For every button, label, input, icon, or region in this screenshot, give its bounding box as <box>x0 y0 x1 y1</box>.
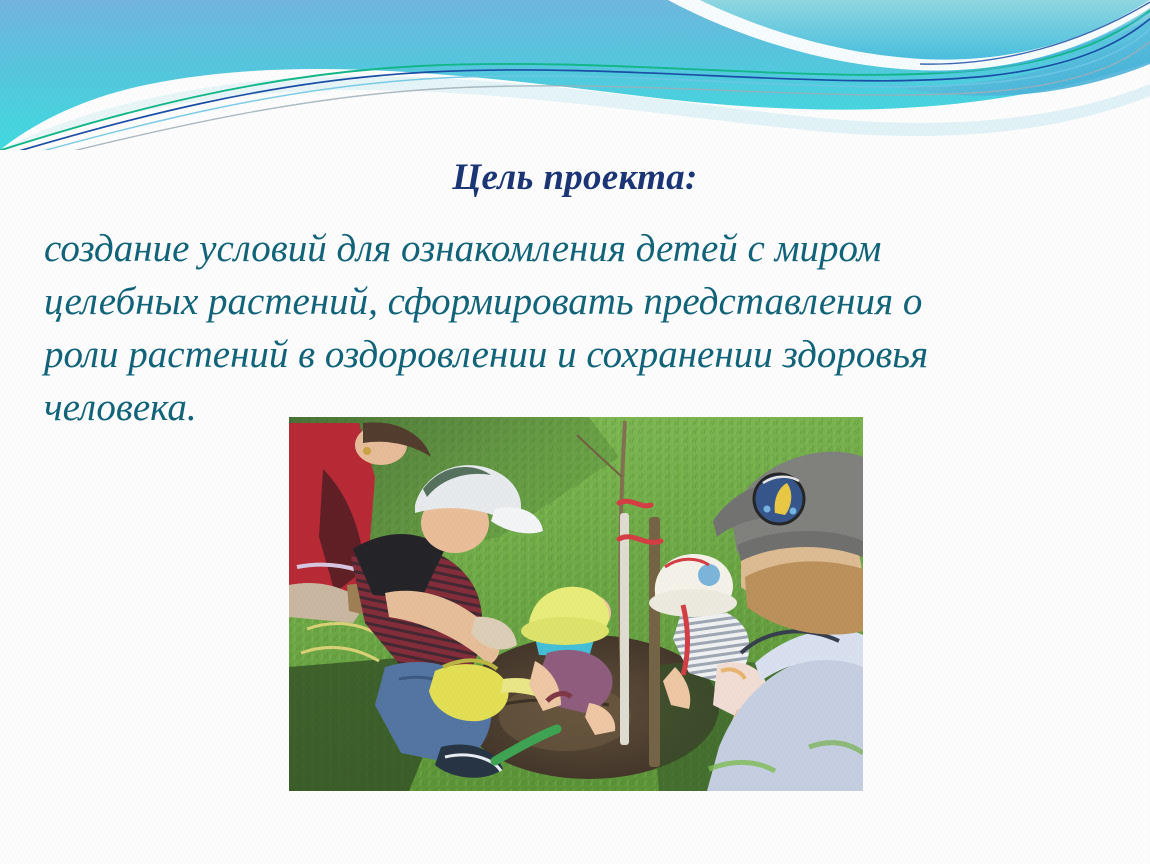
body-line-2: целебных растений, сформировать представ… <box>44 275 1104 328</box>
slide: Цель проекта: создание условий для ознак… <box>0 0 1150 864</box>
slide-body-text: создание условий для ознакомления детей … <box>44 222 1104 434</box>
body-line-1: создание условий для ознакомления детей … <box>44 222 1104 275</box>
page-title: Цель проекта: <box>0 156 1150 200</box>
body-line-3: роли растений в оздоровлении и сохранени… <box>44 328 1104 381</box>
body-line-4: человека. <box>44 381 1104 434</box>
slide-text-content: Цель проекта: создание условий для ознак… <box>0 0 1150 864</box>
